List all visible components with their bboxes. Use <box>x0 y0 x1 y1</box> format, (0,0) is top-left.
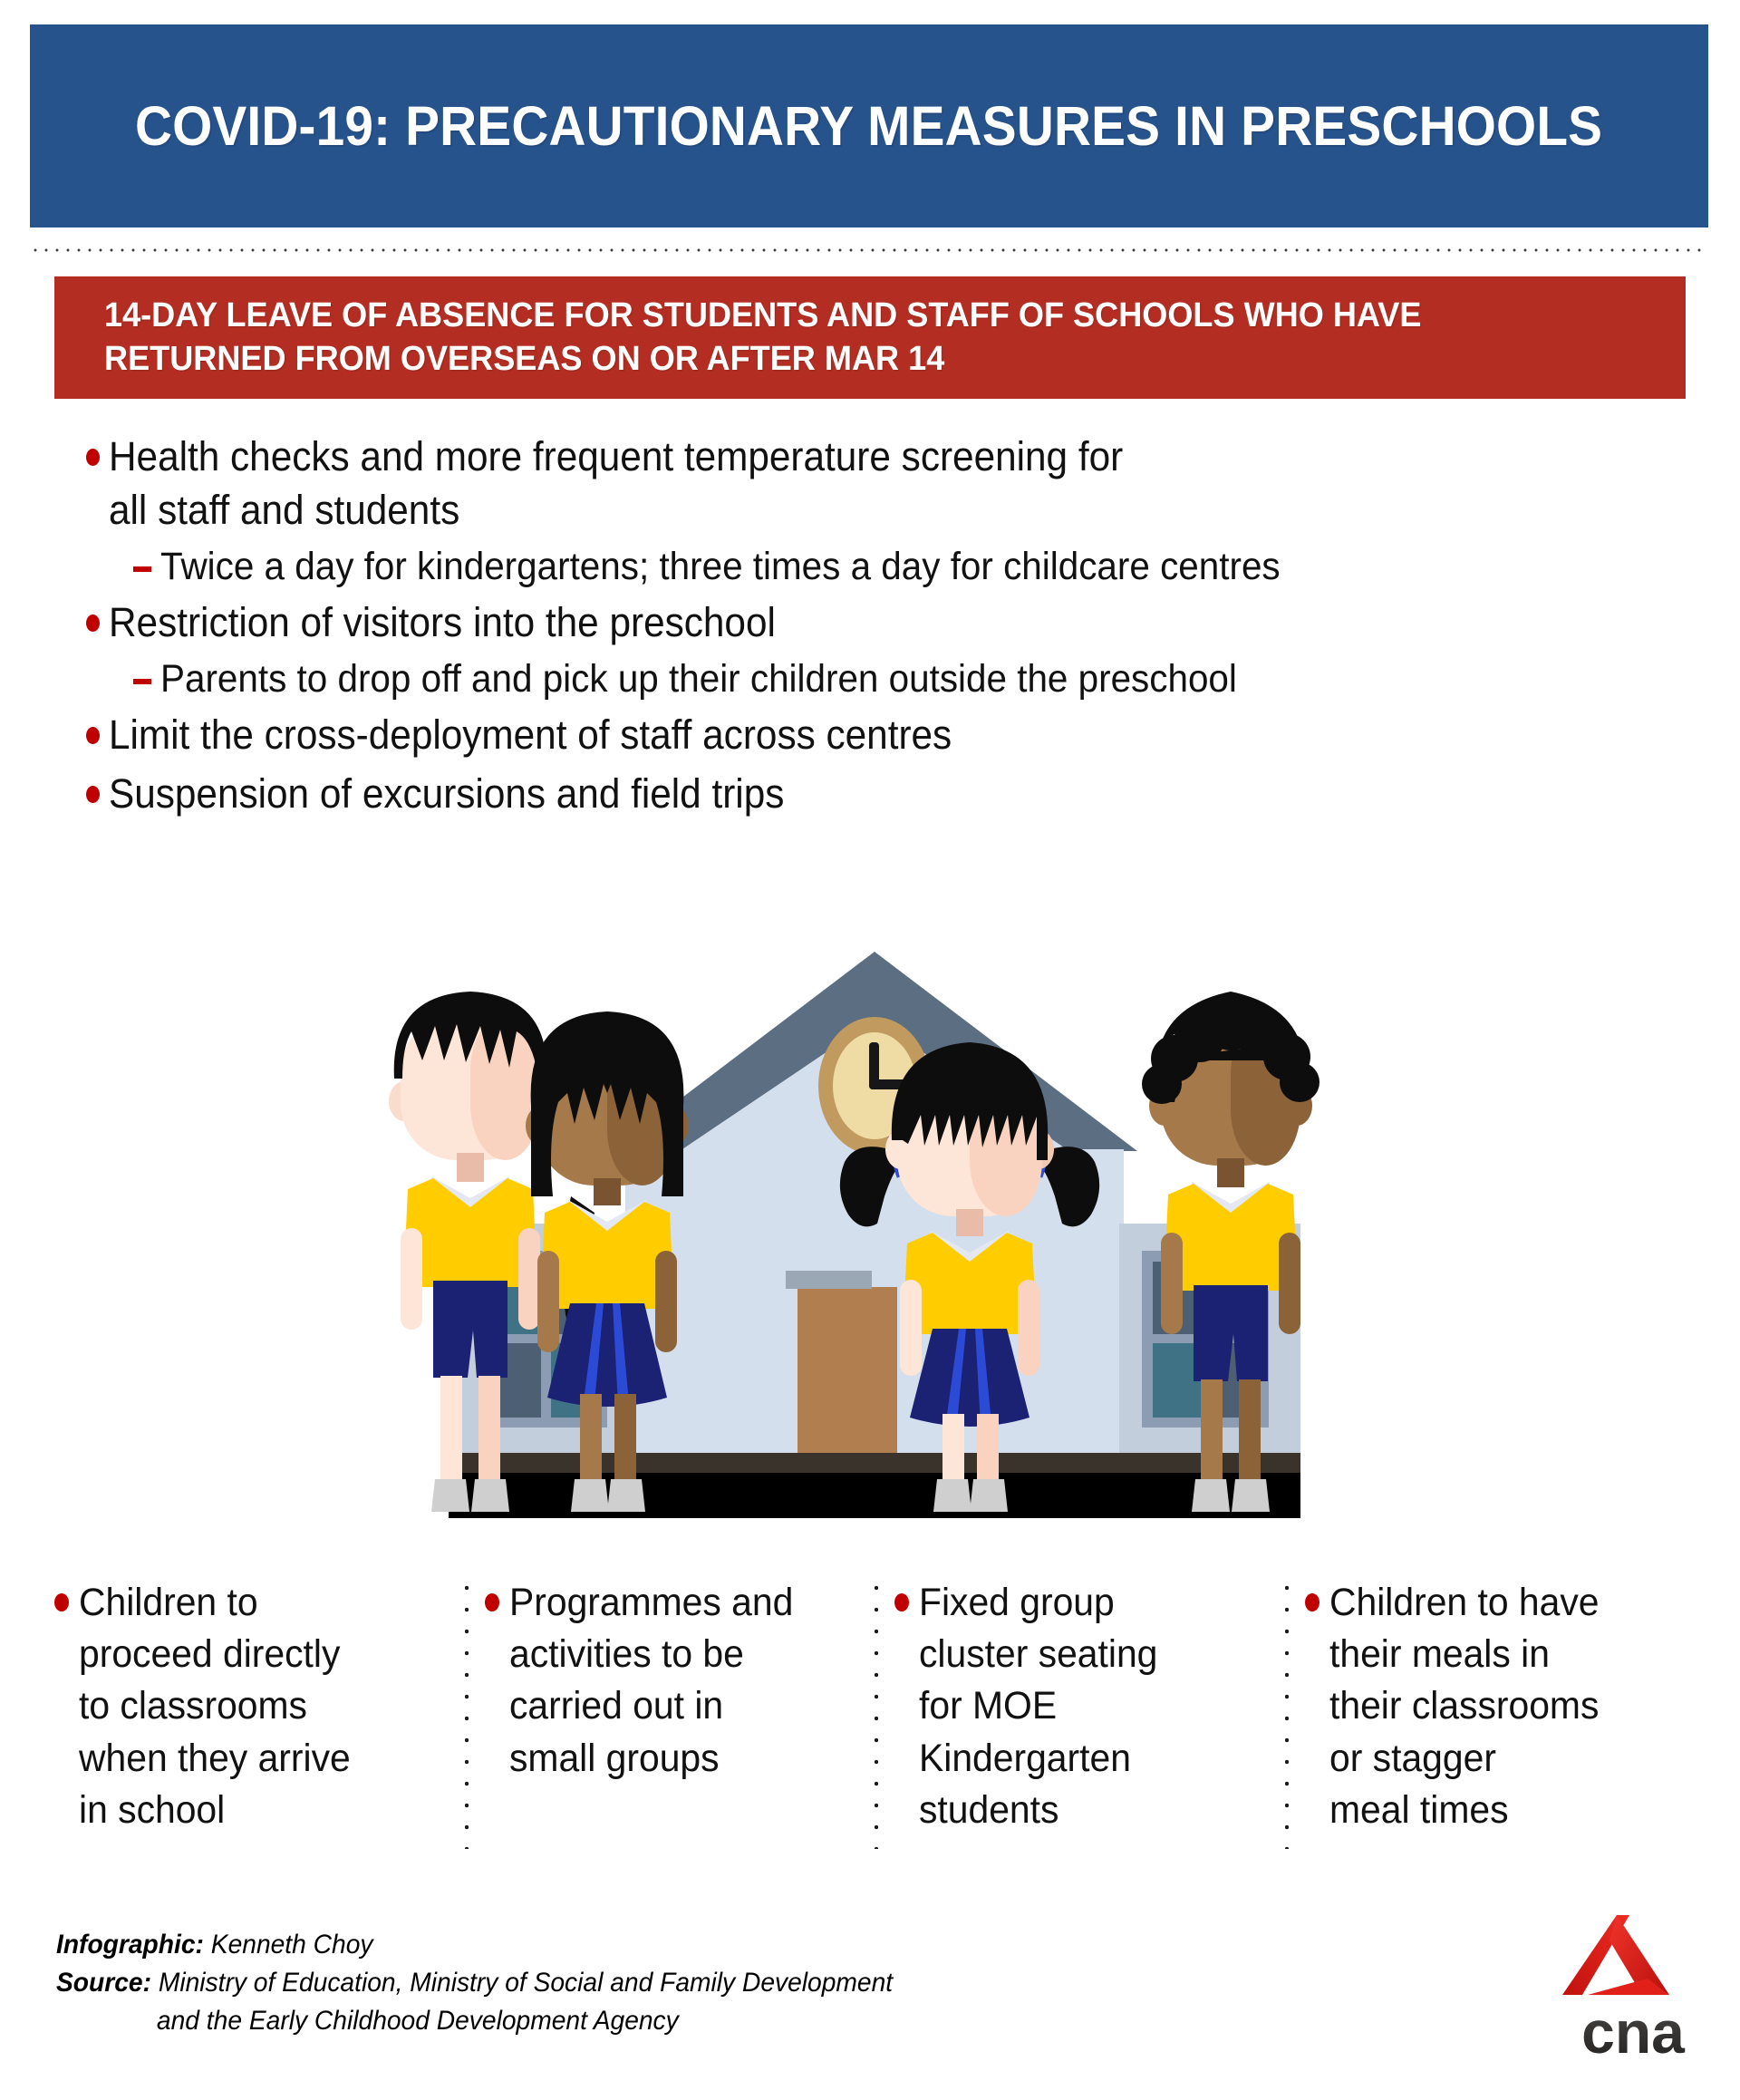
measure-item: Suspension of excursions and field trips <box>86 768 1681 821</box>
loa-banner-text: 14-DAY LEAVE OF ABSENCE FOR STUDENTS AND… <box>104 295 1580 381</box>
infographic-label: Infographic: <box>56 1930 204 1960</box>
loa-banner: 14-DAY LEAVE OF ABSENCE FOR STUDENTS AND… <box>54 276 1686 399</box>
bullet-dot-icon <box>86 615 100 632</box>
bullet-dot-icon <box>1305 1593 1319 1611</box>
practice-text: Children to proceed directly to classroo… <box>79 1577 351 1836</box>
measure-subitem: Parents to drop off and pick up their ch… <box>86 654 1681 705</box>
measures-list: Health checks and more frequent temperat… <box>86 431 1681 826</box>
ground-step <box>449 1453 1300 1473</box>
shoe <box>933 1479 971 1512</box>
column-dotted-divider <box>465 1577 469 1849</box>
shoe <box>970 1479 1008 1512</box>
source-credit: Source: Ministry of Education, Ministry … <box>56 1964 1164 2002</box>
source-label: Source: <box>56 1968 151 1998</box>
infographic-value: Kenneth Choy <box>204 1930 373 1960</box>
shirt <box>403 1178 537 1287</box>
bullet-dash-icon <box>133 679 151 684</box>
practice-column: Programmes and activities to be carried … <box>465 1577 875 1867</box>
practice-text: Programmes and activities to be carried … <box>509 1577 793 1785</box>
column-dotted-divider <box>1285 1577 1289 1849</box>
bullet-dot-icon <box>86 727 100 744</box>
practice-text: Children to have their meals in their cl… <box>1329 1577 1599 1836</box>
page-title: COVID-19: PRECAUTIONARY MEASURES IN PRES… <box>135 95 1602 157</box>
bullet-dash-icon <box>133 566 151 572</box>
shoe <box>1232 1479 1270 1512</box>
source-credit-line2: and the Early Childhood Development Agen… <box>56 2002 1164 2040</box>
measure-text: Limit the cross-deployment of staff acro… <box>109 709 952 762</box>
school-illustration <box>344 924 1405 1550</box>
measure-subitem: Twice a day for kindergartens; three tim… <box>86 542 1681 593</box>
infographic-credit: Infographic: Kenneth Choy <box>56 1926 1164 1964</box>
header-dotted-divider <box>30 248 1708 252</box>
measure-subtext: Twice a day for kindergartens; three tim… <box>160 542 1281 593</box>
measure-subtext: Parents to drop off and pick up their ch… <box>160 654 1237 705</box>
shoe <box>1192 1479 1230 1512</box>
measure-item: Health checks and more frequent temperat… <box>86 431 1681 537</box>
logo-wordmark: cna <box>1581 1998 1686 2066</box>
infographic-page: COVID-19: PRECAUTIONARY MEASURES IN PRES… <box>0 0 1740 2100</box>
bullet-dot-icon <box>86 449 100 466</box>
practice-column: Children to proceed directly to classroo… <box>54 1577 465 1867</box>
source-value: Ministry of Education, Ministry of Socia… <box>151 1968 893 1998</box>
shoe <box>471 1479 509 1512</box>
bullet-dot-icon <box>894 1593 909 1611</box>
shirt <box>540 1202 674 1309</box>
header-banner: COVID-19: PRECAUTIONARY MEASURES IN PRES… <box>30 24 1708 227</box>
footer-credits: Infographic: Kenneth Choy Source: Minist… <box>56 1926 1234 2040</box>
measure-item: Limit the cross-deployment of staff acro… <box>86 709 1681 762</box>
measure-text: Health checks and more frequent temperat… <box>109 431 1123 537</box>
shirt <box>1164 1184 1298 1291</box>
practice-column: Fixed group cluster seating for MOE Kind… <box>875 1577 1285 1867</box>
shoe <box>431 1479 469 1512</box>
bullet-dot-icon <box>485 1593 499 1611</box>
bullet-dot-icon <box>86 786 100 803</box>
practice-column: Children to have their meals in their cl… <box>1285 1577 1696 1867</box>
measure-text: Suspension of excursions and field trips <box>109 768 784 821</box>
cna-logo: cna <box>1551 1908 1715 2071</box>
practices-columns: Children to proceed directly to classroo… <box>54 1577 1695 1867</box>
measure-text: Restriction of visitors into the prescho… <box>109 596 776 650</box>
door <box>786 1271 897 1453</box>
measure-item: Restriction of visitors into the prescho… <box>86 596 1681 650</box>
bullet-dot-icon <box>54 1593 69 1611</box>
shoe <box>571 1479 609 1512</box>
column-dotted-divider <box>875 1577 878 1849</box>
shoe <box>607 1479 645 1512</box>
practice-text: Fixed group cluster seating for MOE Kind… <box>919 1577 1157 1836</box>
